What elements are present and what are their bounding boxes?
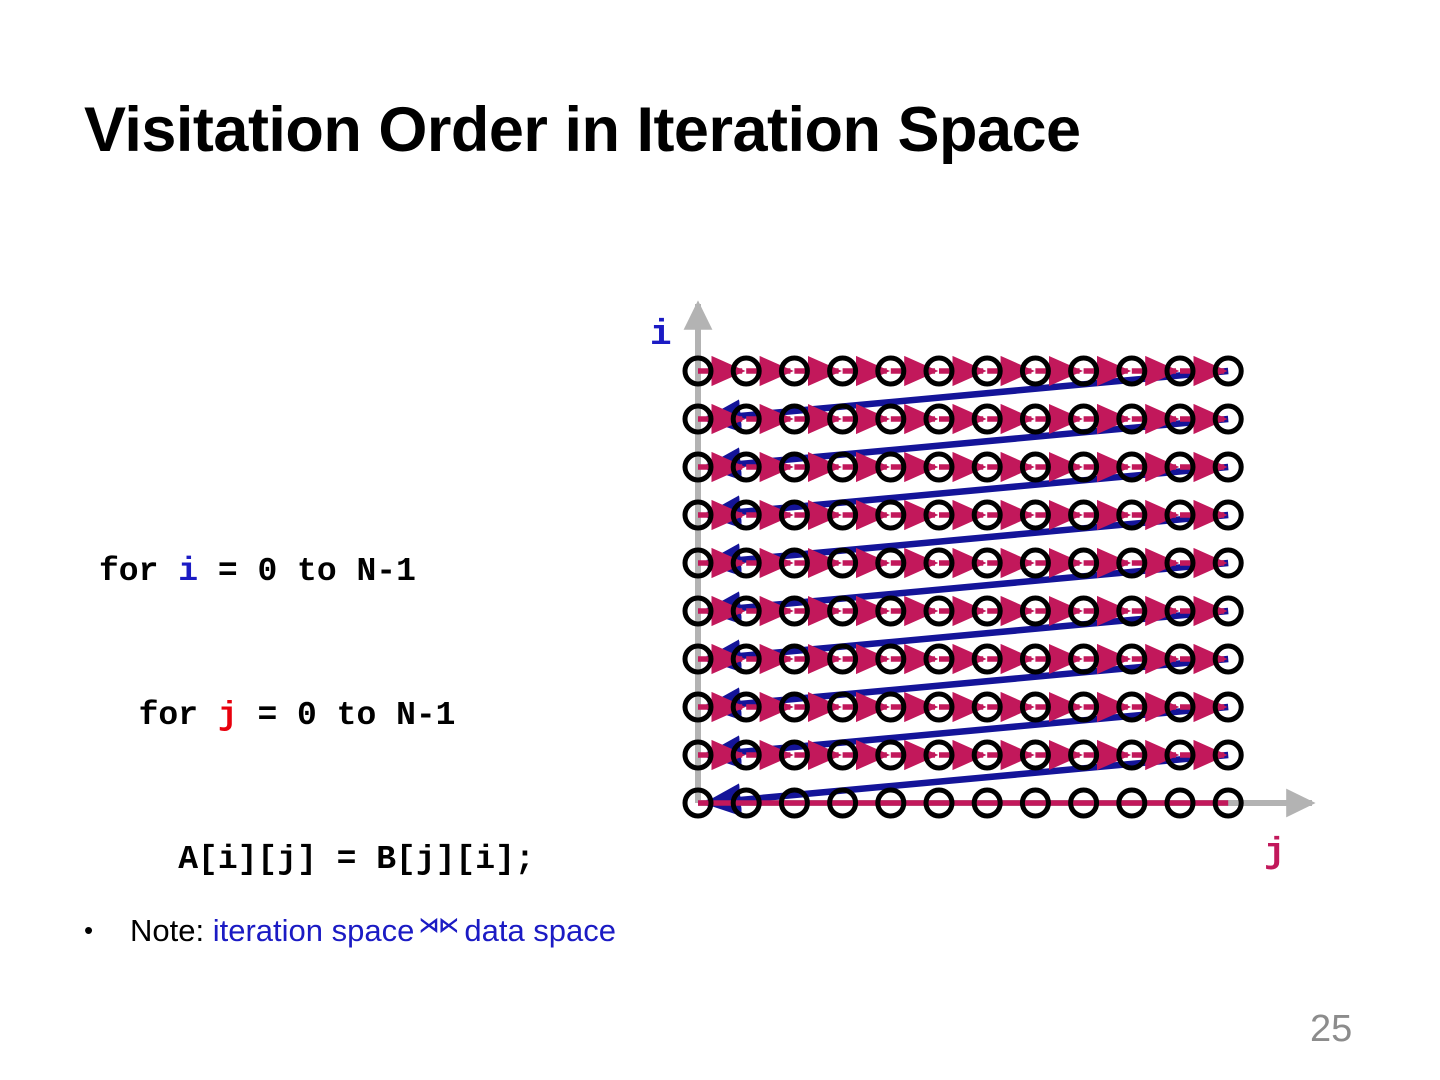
bullet-icon: • bbox=[84, 907, 130, 953]
code-range-2: = 0 to N-1 bbox=[238, 697, 456, 734]
axis-label-j: j bbox=[1264, 832, 1286, 873]
page-number: 25 bbox=[1310, 1008, 1352, 1051]
page-title: Visitation Order in Iteration Space bbox=[84, 92, 1364, 168]
code-var-j: j bbox=[218, 697, 238, 734]
not-equal-icon: ⋊⋉ bbox=[414, 913, 464, 937]
wrap-arrow-group bbox=[707, 371, 1228, 803]
note-data-space-label: data space bbox=[464, 913, 616, 948]
note-iteration-space-label: iteration space bbox=[213, 913, 415, 948]
code-keyword-for-inner: for bbox=[99, 697, 218, 734]
code-line-3: A[i][j] = B[j][i]; bbox=[99, 836, 535, 884]
code-var-i: i bbox=[178, 553, 198, 590]
code-block: for i = 0 to N-1 for j = 0 to N-1 A[i][j… bbox=[99, 452, 535, 932]
axis-label-i: i bbox=[650, 314, 672, 355]
code-line-1: for i = 0 to N-1 bbox=[99, 548, 535, 596]
note-bullet-item: •Note: iteration space⋊⋉data space bbox=[84, 902, 984, 954]
note-prefix-label: Note: bbox=[130, 913, 213, 948]
code-range-1: = 0 to N-1 bbox=[198, 553, 416, 590]
iteration-space-diagram: i j bbox=[620, 280, 1340, 880]
code-line-2: for j = 0 to N-1 bbox=[99, 692, 535, 740]
code-keyword-for: for bbox=[99, 553, 178, 590]
